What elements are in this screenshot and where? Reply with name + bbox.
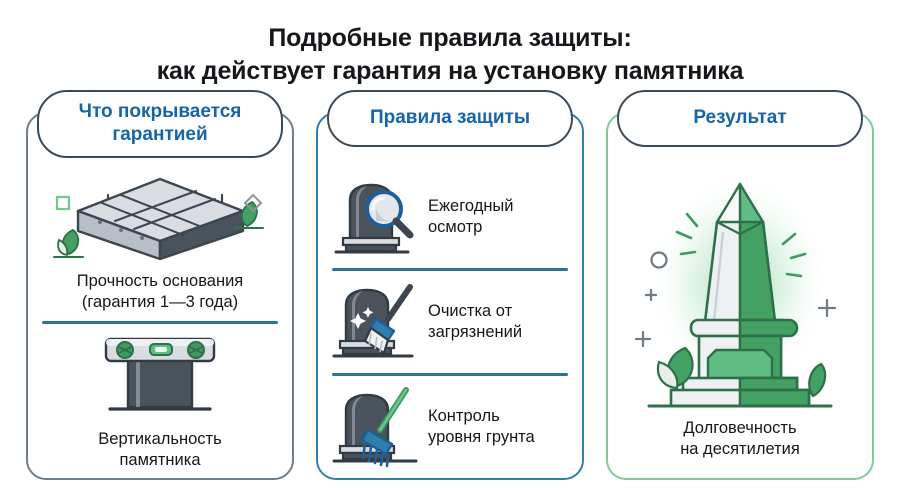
card2-item2-label: Очистка от загрязнений: [428, 301, 522, 344]
card2-item2-label-line-2: загрязнений: [428, 323, 522, 341]
infographic-page: Подробные правила защиты: как действует …: [0, 0, 900, 491]
card-covered-by-warranty: Что покрывается гарантией: [26, 112, 294, 480]
card2-item-ground-level: Контроль уровня грунта: [318, 376, 582, 478]
leaf-icon-left: [50, 224, 92, 264]
card1-item2-caption: Вертикальность памятника: [98, 429, 221, 471]
card3-body: Долговечность на десятилетия: [608, 166, 872, 478]
card1-item1-caption-line-2: (гарантия 1—3 года): [82, 293, 238, 311]
headstone-with-rake-icon: [332, 386, 424, 468]
card2-item1-label-line-2: осмотр: [428, 218, 482, 236]
card1-item1-caption: Прочность основания (гарантия 1—3 года): [77, 271, 243, 313]
card1-header-line-1: Что покрывается: [79, 101, 242, 122]
card2-item3-label-line-1: Контроль: [428, 407, 500, 425]
card1-body: Прочность основания (гарантия 1—3 года): [28, 166, 292, 478]
small-square-icon: [54, 194, 72, 212]
card1-item-verticality: Вертикальность памятника: [28, 324, 292, 479]
page-title-line-2: как действует гарантия на установку памя…: [0, 55, 900, 88]
headstone-with-broom-icon: [332, 281, 424, 363]
card3-header-label: Результат: [693, 107, 786, 128]
card2-header-pill: Правила защиты: [327, 90, 573, 147]
cards-row: Что покрывается гарантией: [0, 112, 900, 480]
card2-item-annual-inspection: Ежегодный осмотр: [318, 166, 582, 268]
card2-item-cleaning: Очистка от загрязнений: [318, 271, 582, 373]
leaf-icon-right: [809, 364, 825, 396]
card1-item1-caption-line-1: Прочность основания: [77, 272, 243, 290]
card3-caption-line-1: Долговечность: [683, 419, 796, 437]
page-title: Подробные правила защиты: как действует …: [0, 22, 900, 88]
spirit-level-on-headstone-icon: [70, 331, 250, 423]
card1-item2-caption-line-1: Вертикальность: [98, 430, 221, 448]
card2-item1-label: Ежегодный осмотр: [428, 196, 514, 239]
concrete-foundation-slab-icon: [65, 173, 255, 265]
card3-caption: Долговечность на десятилетия: [680, 418, 800, 461]
card2-item3-label-line-2: уровня грунта: [428, 428, 535, 446]
card-result: Результат: [606, 112, 874, 480]
card2-header-label: Правила защиты: [370, 107, 530, 128]
card-protection-rules: Правила защиты: [316, 112, 584, 480]
card2-item1-label-line-1: Ежегодный: [428, 197, 514, 215]
card3-caption-line-2: на десятилетия: [680, 440, 800, 458]
small-diamond-icon: [242, 192, 264, 214]
card1-item2-caption-line-2: памятника: [119, 451, 200, 469]
page-title-line-1: Подробные правила защиты:: [0, 22, 900, 55]
card1-header-line-2: гарантией: [112, 124, 207, 145]
card1-header-pill: Что покрывается гарантией: [37, 90, 283, 158]
card2-item2-label-line-1: Очистка от: [428, 302, 512, 320]
headstone-with-magnifier-icon: [332, 176, 424, 258]
card3-header-pill: Результат: [617, 90, 863, 147]
card2-item3-label: Контроль уровня грунта: [428, 406, 535, 449]
card2-body: Ежегодный осмотр: [318, 166, 582, 478]
green-obelisk-monument-icon: [615, 172, 865, 410]
card1-item-foundation: Прочность основания (гарантия 1—3 года): [28, 166, 292, 321]
